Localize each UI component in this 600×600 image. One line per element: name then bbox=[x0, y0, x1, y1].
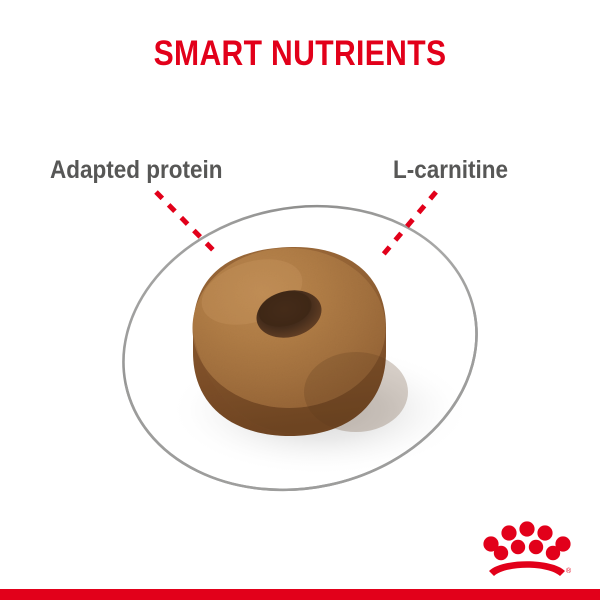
leader-line-adapted-protein bbox=[156, 192, 219, 256]
callout-label-l-carnitine: L-carnitine bbox=[393, 158, 508, 183]
royal-canin-crown-logo: ® bbox=[482, 520, 572, 578]
crown-dot bbox=[511, 540, 525, 554]
crown-dot bbox=[501, 525, 516, 540]
footer-accent-bar bbox=[0, 589, 600, 600]
crown-dot bbox=[494, 546, 508, 560]
kibble-piece bbox=[193, 247, 409, 436]
leader-line-l-carnitine bbox=[382, 192, 436, 256]
trademark-symbol: ® bbox=[566, 567, 572, 575]
crown-dot bbox=[537, 525, 552, 540]
callout-label-adapted-protein: Adapted protein bbox=[50, 158, 223, 183]
crown-dot bbox=[529, 540, 543, 554]
poster-canvas: SMART NUTRIENTS bbox=[0, 0, 600, 600]
crown-base-arc bbox=[489, 561, 565, 576]
kibble-illustration bbox=[0, 0, 600, 600]
crown-dot bbox=[519, 521, 534, 536]
crown-dot bbox=[546, 546, 560, 560]
